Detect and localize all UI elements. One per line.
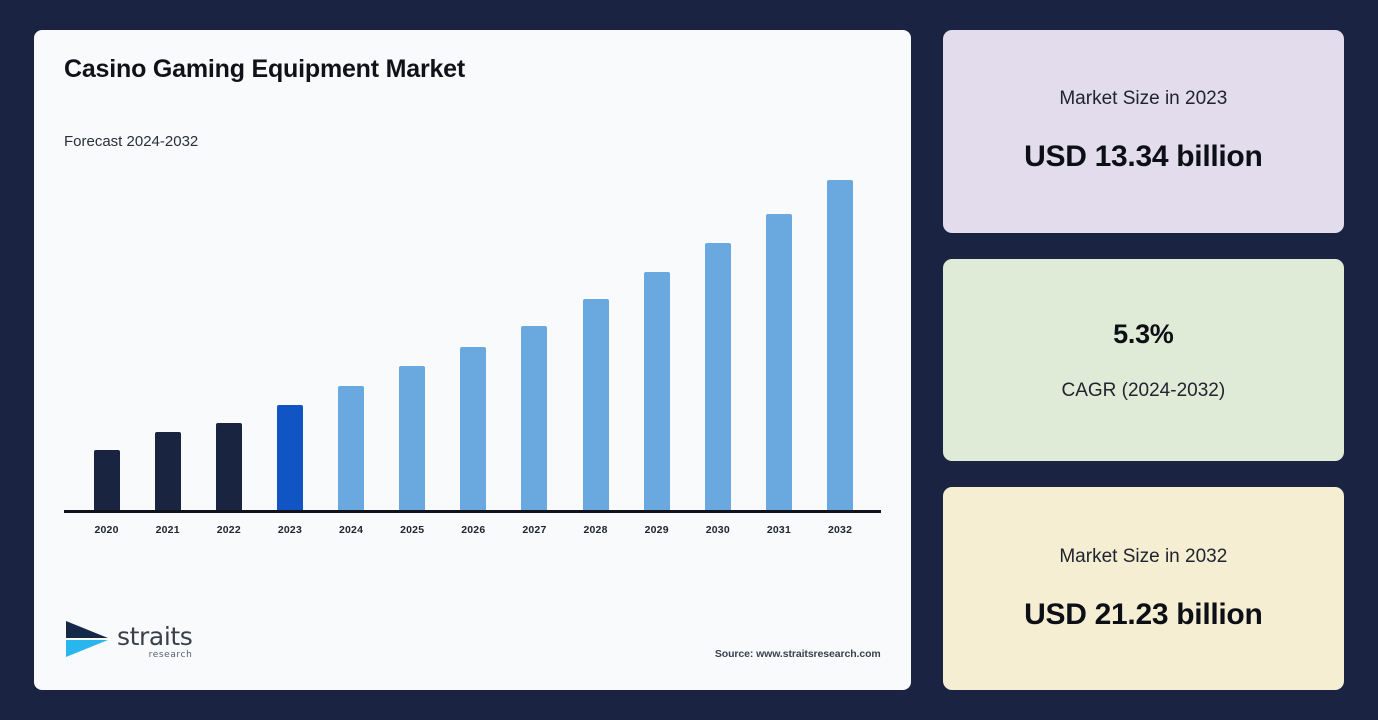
stat-card-label: Market Size in 2023 <box>1059 88 1227 110</box>
straits-research-logo: straits research <box>64 619 192 664</box>
tick-slot: 2029 <box>626 520 687 538</box>
chart-subtitle: Forecast 2024-2032 <box>64 133 881 150</box>
tick-label-2026: 2026 <box>461 524 485 536</box>
bar-2027[interactable] <box>521 326 547 511</box>
bar-slot <box>137 170 198 511</box>
tick-slot: 2031 <box>748 520 809 538</box>
bar-2028[interactable] <box>583 299 609 511</box>
page-title: Casino Gaming Equipment Market <box>64 56 881 84</box>
bar-slot <box>748 170 809 511</box>
tick-label-2025: 2025 <box>400 524 424 536</box>
tick-label-2024: 2024 <box>339 524 363 536</box>
tick-slot: 2020 <box>76 520 137 538</box>
tick-slot: 2027 <box>504 520 565 538</box>
bar-2032[interactable] <box>827 180 853 511</box>
chart-panel: Casino Gaming Equipment Market Forecast … <box>34 30 911 690</box>
bar-slot <box>443 170 504 511</box>
bar-slot <box>504 170 565 511</box>
bar-slot <box>259 170 320 511</box>
tick-slot: 2022 <box>198 520 259 538</box>
bar-2031[interactable] <box>766 214 792 511</box>
bar-slot <box>76 170 137 511</box>
bar-2025[interactable] <box>399 366 425 511</box>
stat-card-cagr: 5.3%CAGR (2024-2032) <box>943 259 1344 462</box>
tick-label-2031: 2031 <box>767 524 791 536</box>
bar-slot <box>687 170 748 511</box>
tick-slot: 2030 <box>687 520 748 538</box>
bar-2023[interactable] <box>277 405 303 511</box>
tick-slot: 2023 <box>259 520 320 538</box>
bar-2021[interactable] <box>155 432 181 511</box>
stat-card-value: 5.3% <box>1113 319 1173 350</box>
bar-slot <box>626 170 687 511</box>
tick-label-2020: 2020 <box>94 524 118 536</box>
bar-slot <box>198 170 259 511</box>
stat-cards-column: Market Size in 2023USD 13.34 billion5.3%… <box>943 30 1344 690</box>
stat-card-market-size-2023: Market Size in 2023USD 13.34 billion <box>943 30 1344 233</box>
stat-card-value: USD 21.23 billion <box>1024 598 1262 632</box>
tick-label-2023: 2023 <box>278 524 302 536</box>
bar-slot <box>321 170 382 511</box>
bar-slot <box>565 170 626 511</box>
bar-series <box>76 170 871 511</box>
bar-slot <box>810 170 871 511</box>
tick-slot: 2024 <box>321 520 382 538</box>
stat-card-market-size-2032: Market Size in 2032USD 21.23 billion <box>943 487 1344 690</box>
tick-label-2029: 2029 <box>645 524 669 536</box>
logo-subword: research <box>149 651 193 660</box>
stat-card-value: USD 13.34 billion <box>1024 140 1262 174</box>
tick-slot: 2026 <box>443 520 504 538</box>
bar-2024[interactable] <box>338 386 364 511</box>
tick-label-2028: 2028 <box>583 524 607 536</box>
logo-wordmark: straits research <box>117 624 192 660</box>
tick-slot: 2025 <box>382 520 443 538</box>
bar-2026[interactable] <box>460 347 486 511</box>
tick-slot: 2028 <box>565 520 626 538</box>
tick-label-2021: 2021 <box>156 524 180 536</box>
bar-2030[interactable] <box>705 243 731 511</box>
bar-2029[interactable] <box>644 272 670 511</box>
tick-slot: 2021 <box>137 520 198 538</box>
tick-label-2032: 2032 <box>828 524 852 536</box>
stat-card-label: Market Size in 2032 <box>1059 546 1227 568</box>
bar-2022[interactable] <box>216 423 242 511</box>
x-axis-tick-labels: 2020202120222023202420252026202720282029… <box>76 520 871 538</box>
straits-arrow-logo-icon <box>64 619 110 664</box>
tick-label-2022: 2022 <box>217 524 241 536</box>
bar-chart-plot-area: 2020202120222023202420252026202720282029… <box>64 168 881 511</box>
source-attribution: Source: www.straitsresearch.com <box>715 648 881 664</box>
market-infographic: Casino Gaming Equipment Market Forecast … <box>0 0 1378 720</box>
tick-slot: 2032 <box>810 520 871 538</box>
bar-slot <box>382 170 443 511</box>
tick-label-2030: 2030 <box>706 524 730 536</box>
tick-label-2027: 2027 <box>522 524 546 536</box>
logo-word: straits <box>117 624 192 649</box>
bar-2020[interactable] <box>94 450 120 511</box>
chart-footer: straits research Source: www.straitsrese… <box>64 619 881 664</box>
stat-card-label: CAGR (2024-2032) <box>1061 380 1225 402</box>
x-axis-line <box>64 510 881 513</box>
